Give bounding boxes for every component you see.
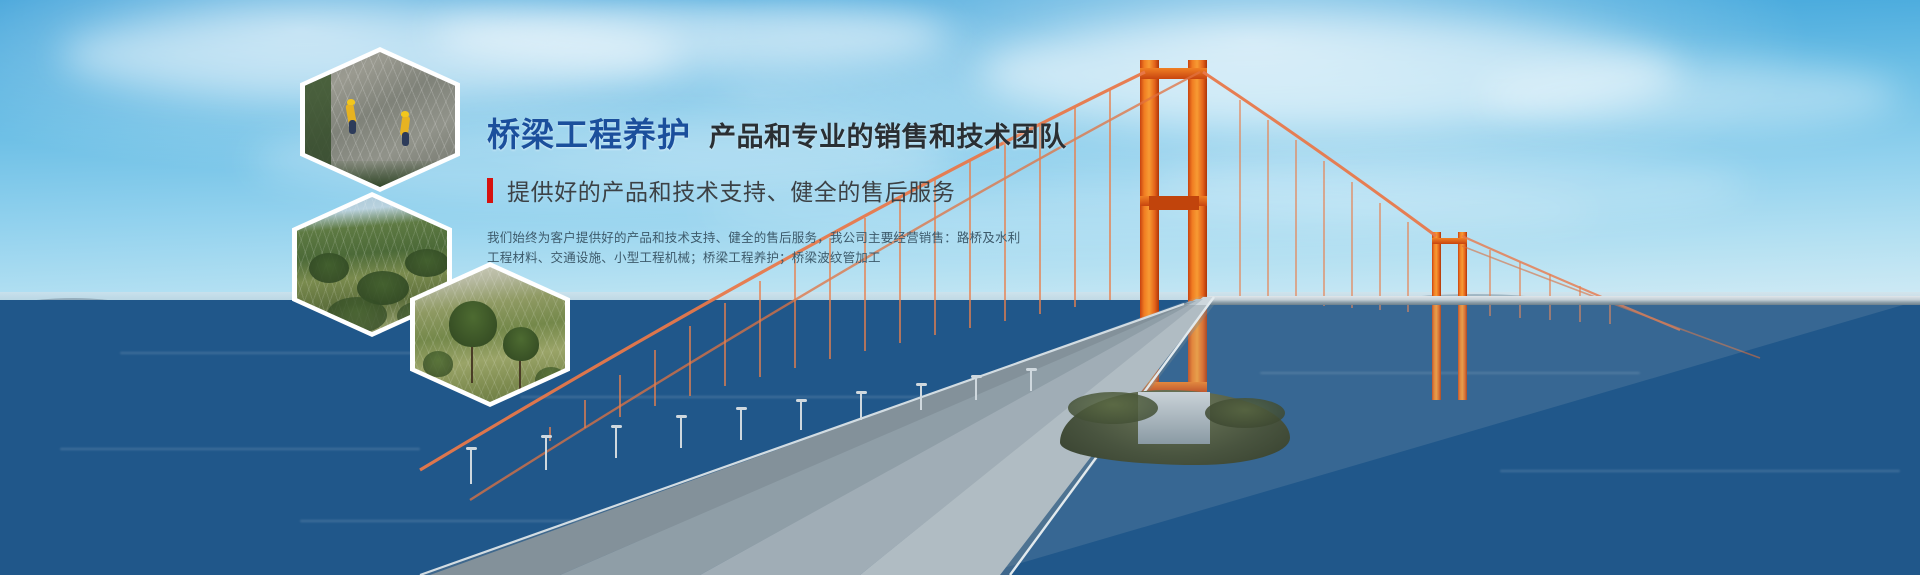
deck-lamp <box>740 410 742 440</box>
island-vegetation <box>1205 398 1285 428</box>
background-photo <box>0 0 1920 575</box>
hero-banner: 桥梁工程养护 产品和专业的销售和技术团队 提供好的产品和技术支持、健全的售后服务… <box>0 0 1920 575</box>
thumbnail-rock-slope-netting-workers[interactable] <box>300 47 460 192</box>
description-paragraph: 我们始终为客户提供好的产品和技术支持、健全的售后服务，我公司主要经营销售：路桥及… <box>487 228 1007 268</box>
description-line-2: 工程材料、交通设施、小型工程机械；桥梁工程养护；桥梁波纹管加工 <box>487 248 1007 268</box>
deck-lamp <box>800 402 802 430</box>
deck-lamp <box>470 450 472 484</box>
accent-bar <box>487 178 493 203</box>
bridge-deck <box>0 0 1920 575</box>
headline: 桥梁工程养护 产品和专业的销售和技术团队 <box>487 118 1007 151</box>
suspension-bridge <box>0 0 1920 575</box>
subheadline-row: 提供好的产品和技术支持、健全的售后服务 <box>487 173 1007 207</box>
subheadline: 提供好的产品和技术支持、健全的售后服务 <box>507 173 955 207</box>
banner-copy: 桥梁工程养护 产品和专业的销售和技术团队 提供好的产品和技术支持、健全的售后服务… <box>487 118 1007 268</box>
headline-secondary: 产品和专业的销售和技术团队 <box>709 124 1067 151</box>
deck-lamp <box>860 394 862 420</box>
island-vegetation <box>1068 392 1158 424</box>
description-line-1: 我们始终为客户提供好的产品和技术支持、健全的售后服务，我公司主要经营销售：路桥及… <box>487 228 1007 248</box>
deck-lamp <box>545 438 547 470</box>
headline-primary: 桥梁工程养护 <box>487 118 691 151</box>
thumbnail-image <box>415 267 565 402</box>
deck-lamp <box>1030 371 1032 391</box>
thumbnail-image <box>305 52 455 187</box>
deck-lamp <box>680 418 682 448</box>
deck-lamp <box>975 378 977 400</box>
deck-lamp <box>615 428 617 458</box>
deck-lamp <box>920 386 922 410</box>
